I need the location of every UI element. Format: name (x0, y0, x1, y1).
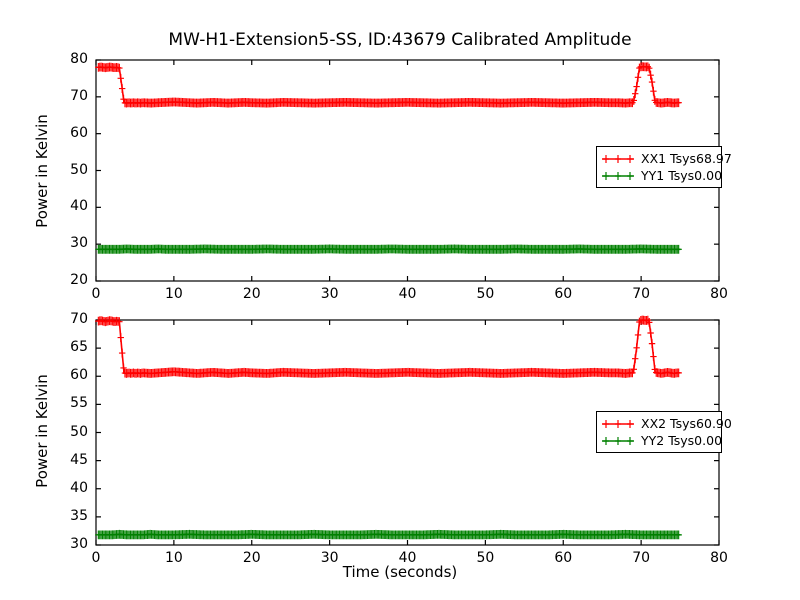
legend-entry-label: YY2 Tsys0.00 (641, 433, 722, 448)
legend-entry[interactable]: XX1 Tsys68.97 (601, 150, 716, 167)
bottom-y-tick-label: 30 (40, 536, 88, 552)
figure-canvas: MW-H1-Extension5-SS, ID:43679 Calibrated… (0, 0, 800, 600)
bottom-y-tick-label: 50 (40, 424, 88, 440)
bottom-y-tick-label: 60 (40, 367, 88, 383)
bottom-panel-legend[interactable]: XX2 Tsys60.90YY2 Tsys0.00 (596, 411, 722, 453)
top-x-tick-label: 60 (538, 286, 588, 302)
legend-entry-label: XX2 Tsys60.90 (641, 416, 732, 431)
top-x-tick-label: 80 (694, 286, 744, 302)
legend-line-marker-icon (601, 153, 635, 165)
bottom-x-tick-label: 0 (71, 550, 121, 566)
top-x-tick-label: 40 (383, 286, 433, 302)
legend-entry[interactable]: YY2 Tsys0.00 (601, 432, 716, 449)
bottom-x-tick-label: 60 (538, 550, 588, 566)
top-x-tick-label: 30 (305, 286, 355, 302)
legend-entry-label: XX1 Tsys68.97 (641, 151, 732, 166)
top-y-tick-label: 50 (40, 162, 88, 178)
bottom-x-tick-label: 50 (460, 550, 510, 566)
top-y-tick-label: 80 (40, 51, 88, 67)
top-y-tick-label: 60 (40, 125, 88, 141)
bottom-y-tick-label: 65 (40, 339, 88, 355)
top-x-tick-label: 0 (71, 286, 121, 302)
top-x-tick-label: 10 (149, 286, 199, 302)
bottom-y-tick-label: 40 (40, 480, 88, 496)
top-y-tick-label: 40 (40, 198, 88, 214)
page-title: MW-H1-Extension5-SS, ID:43679 Calibrated… (0, 30, 800, 50)
top-x-tick-label: 70 (616, 286, 666, 302)
bottom-x-tick-label: 30 (305, 550, 355, 566)
legend-line-marker-icon (601, 170, 635, 182)
bottom-x-tick-label: 80 (694, 550, 744, 566)
legend-line-marker-icon (601, 418, 635, 430)
bottom-y-tick-label: 45 (40, 452, 88, 468)
bottom-x-tick-label: 40 (383, 550, 433, 566)
legend-entry[interactable]: YY1 Tsys0.00 (601, 167, 716, 184)
top-panel-legend[interactable]: XX1 Tsys68.97YY1 Tsys0.00 (596, 146, 722, 188)
bottom-y-tick-label: 70 (40, 311, 88, 327)
top-y-tick-label: 30 (40, 235, 88, 251)
legend-entry[interactable]: XX2 Tsys60.90 (601, 415, 716, 432)
legend-line-marker-icon (601, 435, 635, 447)
bottom-x-tick-label: 20 (227, 550, 277, 566)
bottom-x-tick-label: 10 (149, 550, 199, 566)
top-x-tick-label: 20 (227, 286, 277, 302)
top-x-tick-label: 50 (460, 286, 510, 302)
bottom-y-tick-label: 55 (40, 395, 88, 411)
legend-entry-label: YY1 Tsys0.00 (641, 168, 722, 183)
bottom-y-tick-label: 35 (40, 508, 88, 524)
bottom-x-tick-label: 70 (616, 550, 666, 566)
top-y-tick-label: 20 (40, 272, 88, 288)
top-y-tick-label: 70 (40, 88, 88, 104)
